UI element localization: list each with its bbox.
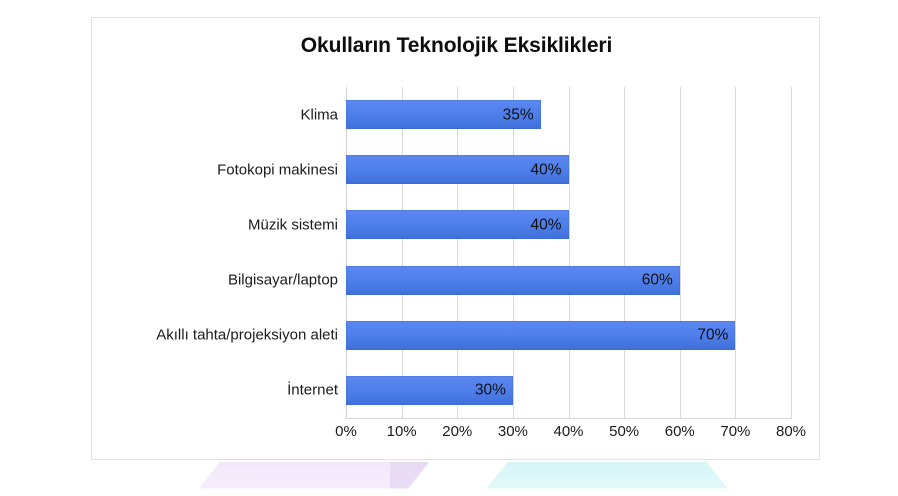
plot-area: Klima35%Fotokopi makinesi40%Müzik sistem… — [346, 87, 791, 418]
x-tick-label: 60% — [665, 424, 695, 439]
bar-track: 40% — [346, 155, 791, 184]
bar-track: 30% — [346, 376, 791, 405]
bar-row: Müzik sistemi40% — [346, 197, 791, 252]
bar-track: 40% — [346, 210, 791, 239]
bar-track: 35% — [346, 100, 791, 129]
x-tick-label: 80% — [776, 424, 806, 439]
x-tick-label: 20% — [442, 424, 472, 439]
x-tick-label: 70% — [720, 424, 750, 439]
x-tick-label: 10% — [387, 424, 417, 439]
bar[interactable]: 40% — [346, 210, 569, 239]
category-label: Müzik sistemi — [248, 217, 338, 232]
bar[interactable]: 70% — [346, 321, 735, 350]
chart-frame: Okulların Teknolojik Eksiklikleri Klima3… — [91, 17, 820, 460]
chart-title: Okulların Teknolojik Eksiklikleri — [92, 34, 821, 58]
bar-value-label: 60% — [642, 272, 673, 288]
x-tick-label: 50% — [609, 424, 639, 439]
bar-value-label: 40% — [530, 217, 561, 233]
category-label: Bilgisayar/laptop — [228, 273, 338, 288]
x-tick-label: 0% — [335, 424, 357, 439]
bar-value-label: 30% — [475, 383, 506, 399]
bar-value-label: 70% — [697, 327, 728, 343]
category-label: İnternet — [287, 383, 338, 398]
category-label: Klima — [300, 107, 338, 122]
x-tick-label: 40% — [553, 424, 583, 439]
x-axis-line — [346, 418, 792, 419]
bar-row: İnternet30% — [346, 363, 791, 418]
bar[interactable]: 35% — [346, 100, 541, 129]
bar-track: 70% — [346, 321, 791, 350]
bar-value-label: 35% — [503, 107, 534, 123]
bar-track: 60% — [346, 266, 791, 295]
bar-row: Fotokopi makinesi40% — [346, 142, 791, 197]
trapezoid-cyan-decoration — [486, 462, 728, 496]
bar[interactable]: 40% — [346, 155, 569, 184]
bar-row: Klima35% — [346, 87, 791, 142]
category-label: Fotokopi makinesi — [217, 162, 338, 177]
bar-row: Bilgisayar/laptop60% — [346, 253, 791, 308]
x-tick-label: 30% — [498, 424, 528, 439]
bar[interactable]: 30% — [346, 376, 513, 405]
bar[interactable]: 60% — [346, 266, 680, 295]
category-label: Akıllı tahta/projeksiyon aleti — [156, 328, 338, 343]
x-axis-tick-labels: 0%10%20%30%40%50%60%70%80% — [346, 424, 791, 448]
bar-value-label: 40% — [530, 162, 561, 178]
gridline-80% — [791, 87, 792, 418]
bar-row: Akıllı tahta/projeksiyon aleti70% — [346, 308, 791, 363]
